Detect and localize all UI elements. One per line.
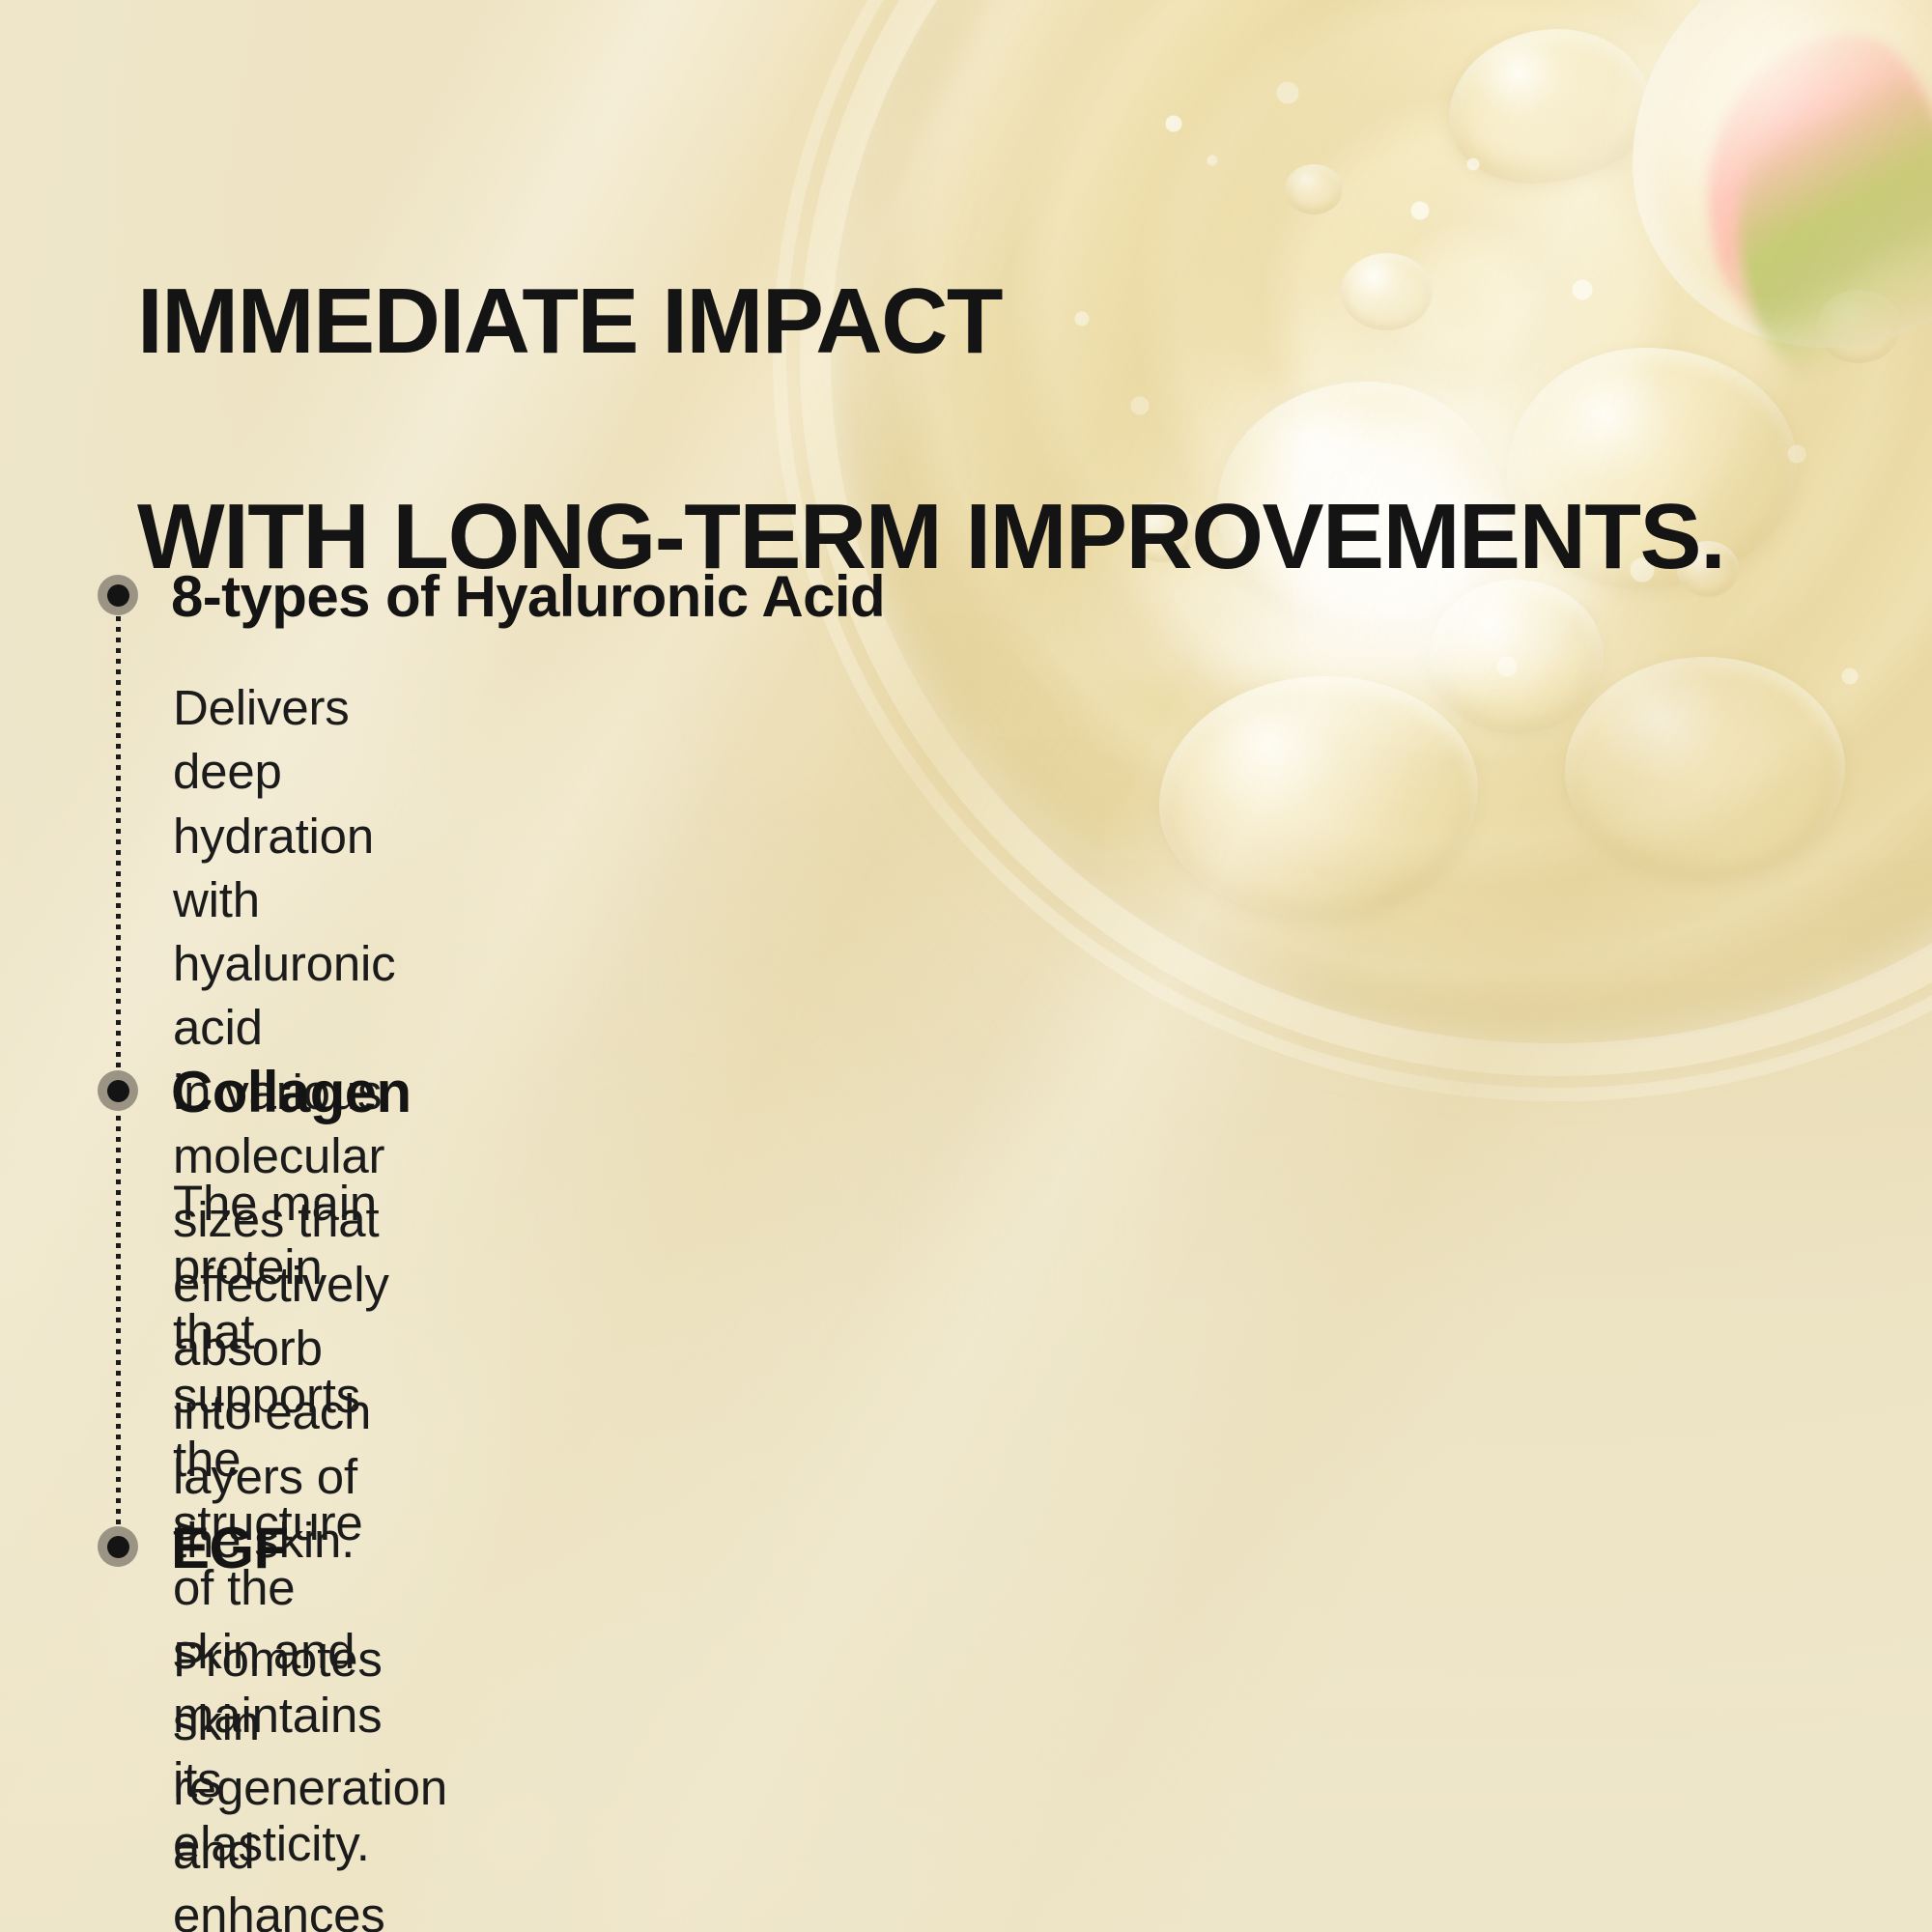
ingredient-title: 8-types of Hyaluronic Acid [171, 568, 885, 626]
ingredient-description: Promotes skin regeneration and enhances … [173, 1628, 469, 1932]
infographic-canvas: IMMEDIATE IMPACT WITH LONG-TERM IMPROVEM… [0, 0, 1932, 1932]
ingredient-title: Collagen [171, 1064, 412, 1122]
bullet-dot-icon [98, 1070, 138, 1111]
bullet-dot-icon [98, 575, 138, 615]
content-area: IMMEDIATE IMPACT WITH LONG-TERM IMPROVEM… [0, 0, 1932, 1932]
bullet-dot-icon [98, 1526, 138, 1567]
ingredient-list: 8-types of Hyaluronic Acid Delivers deep… [0, 0, 1932, 1932]
ingredient-title: EGF [171, 1520, 289, 1577]
